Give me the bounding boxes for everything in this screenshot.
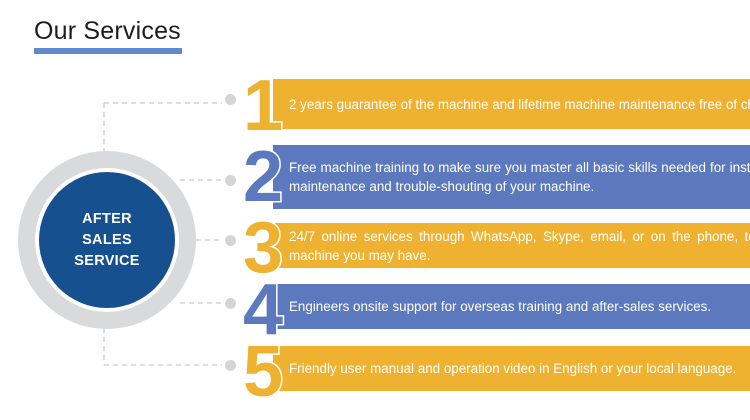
service-number-5: 5 bbox=[243, 336, 283, 408]
page-title: Our Services bbox=[34, 16, 182, 46]
connector-dot-3 bbox=[225, 235, 236, 246]
hub-core: AFTER SALES SERVICE bbox=[39, 172, 175, 308]
services-infographic: Our Services AFTER SALES SERVICE 2 years… bbox=[0, 0, 750, 420]
connector-dot-4 bbox=[225, 298, 236, 309]
hub-label: AFTER SALES SERVICE bbox=[74, 209, 140, 272]
service-text-5: Friendly user manual and operation video… bbox=[289, 359, 736, 378]
title-underline bbox=[34, 48, 182, 54]
service-bar-4[interactable]: Engineers onsite support for overseas tr… bbox=[273, 284, 750, 329]
service-bar-1[interactable]: 2 years guarantee of the machine and lif… bbox=[273, 79, 750, 129]
service-text-2: Free machine training to make sure you m… bbox=[289, 158, 750, 196]
service-number-1: 1 bbox=[243, 70, 283, 142]
service-text-1: 2 years guarantee of the machine and lif… bbox=[289, 95, 750, 114]
connector-dot-2 bbox=[225, 175, 236, 186]
service-bar-2[interactable]: Free machine training to make sure you m… bbox=[273, 145, 750, 209]
service-text-3: 24/7 online services through WhatsApp, S… bbox=[289, 227, 750, 265]
service-bar-5[interactable]: Friendly user manual and operation video… bbox=[273, 346, 750, 391]
service-bar-3[interactable]: 24/7 online services through WhatsApp, S… bbox=[273, 223, 750, 268]
service-number-2: 2 bbox=[243, 141, 283, 213]
hub-label-line-1: AFTER bbox=[74, 209, 140, 230]
connector-dot-1 bbox=[225, 94, 236, 105]
page-title-block: Our Services bbox=[34, 16, 182, 54]
service-text-4: Engineers onsite support for overseas tr… bbox=[289, 297, 711, 316]
hub-circle: AFTER SALES SERVICE bbox=[18, 151, 196, 329]
hub-label-line-3: SERVICE bbox=[74, 251, 140, 272]
hub-label-line-2: SALES bbox=[74, 230, 140, 251]
connector-dot-5 bbox=[225, 360, 236, 371]
